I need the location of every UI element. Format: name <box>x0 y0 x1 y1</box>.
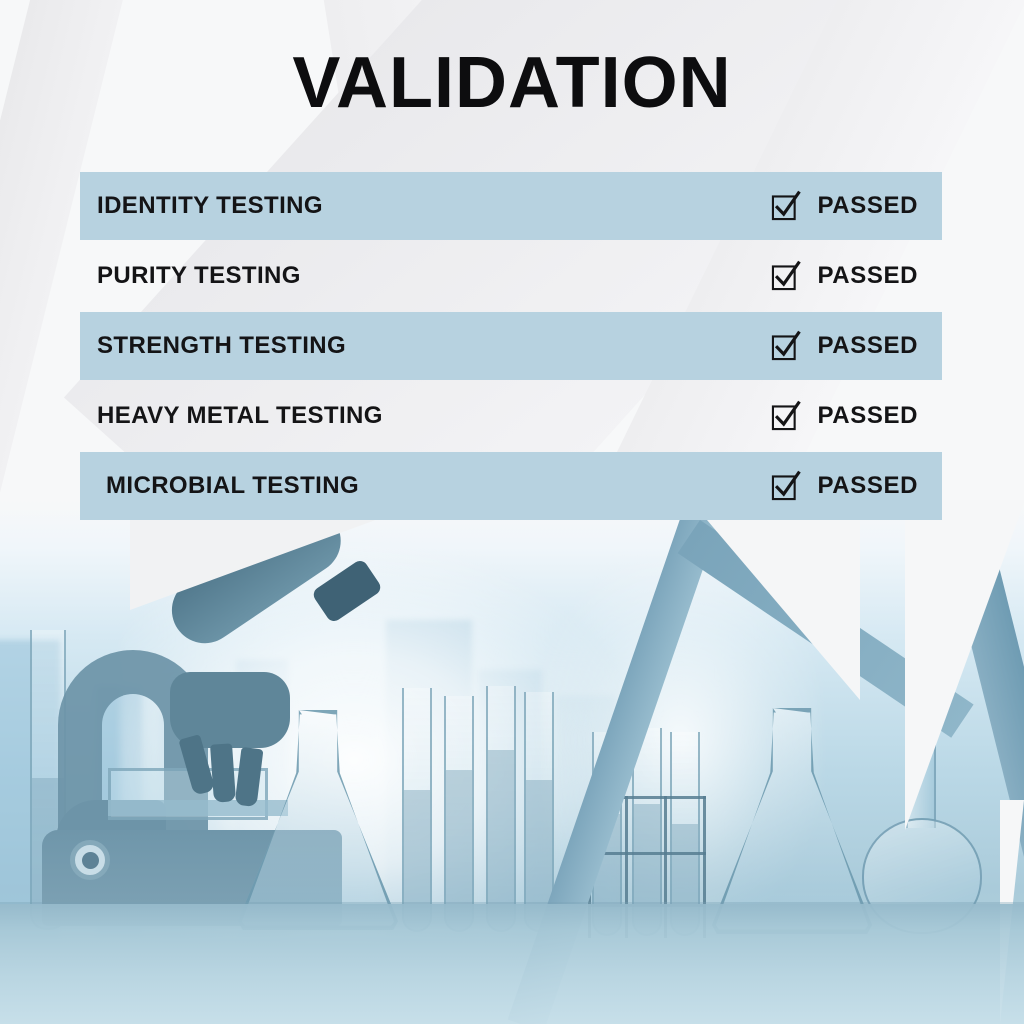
checklist-row[interactable]: HEAVY METAL TESTING PASSED <box>80 382 942 450</box>
page-title: VALIDATION <box>0 44 1024 122</box>
status-badge: PASSED <box>817 332 918 360</box>
checklist-row-status: PASSED <box>771 260 918 292</box>
checklist-row-status: PASSED <box>771 190 918 222</box>
checkbox-checked-icon[interactable] <box>771 190 801 222</box>
status-badge: PASSED <box>817 192 918 220</box>
checkbox-checked-icon[interactable] <box>771 400 801 432</box>
checklist-row-label: HEAVY METAL TESTING <box>97 402 383 430</box>
checklist-row-status: PASSED <box>771 330 918 362</box>
checklist-row-label: MICROBIAL TESTING <box>106 472 359 500</box>
checklist-row[interactable]: IDENTITY TESTING PASSED <box>80 172 942 240</box>
validation-checklist: IDENTITY TESTING PASSED PURITY TESTING <box>80 172 942 522</box>
checkbox-checked-icon[interactable] <box>771 330 801 362</box>
checkbox-checked-icon[interactable] <box>771 260 801 292</box>
checklist-row[interactable]: PURITY TESTING PASSED <box>80 242 942 310</box>
validation-poster: VALIDATION IDENTITY TESTING PASSED PURIT… <box>0 0 1024 1024</box>
status-badge: PASSED <box>817 472 918 500</box>
checklist-row-label: STRENGTH TESTING <box>97 332 346 360</box>
checklist-row[interactable]: MICROBIAL TESTING PASSED <box>80 452 942 520</box>
checklist-row[interactable]: STRENGTH TESTING PASSED <box>80 312 942 380</box>
checklist-row-status: PASSED <box>771 400 918 432</box>
checklist-row-label: PURITY TESTING <box>97 262 301 290</box>
checkbox-checked-icon[interactable] <box>771 470 801 502</box>
status-badge: PASSED <box>817 262 918 290</box>
poster-content: VALIDATION IDENTITY TESTING PASSED PURIT… <box>0 0 1024 1024</box>
checklist-row-label: IDENTITY TESTING <box>97 192 323 220</box>
checklist-row-status: PASSED <box>771 470 918 502</box>
status-badge: PASSED <box>817 402 918 430</box>
